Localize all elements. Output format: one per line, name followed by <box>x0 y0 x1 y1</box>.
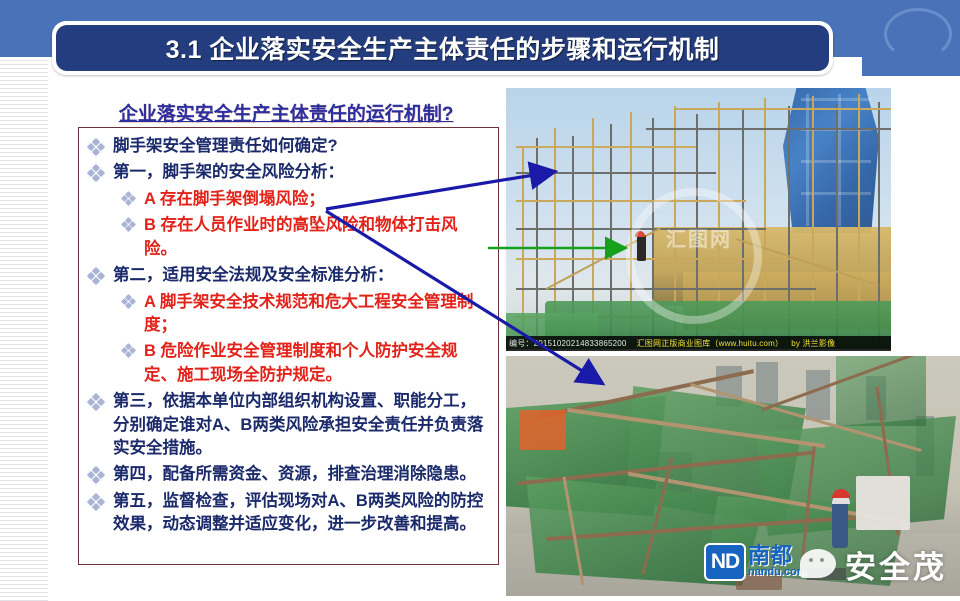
bullet-text: 第四，配备所需资金、资源，排查治理消除隐患。 <box>104 463 489 486</box>
page-title: 3.1 企业落实安全生产主体责任的步骤和运行机制 <box>166 30 720 66</box>
left-stripe-decoration <box>0 57 48 601</box>
watermark-ring <box>626 188 762 324</box>
bullet-diamond-icon <box>88 268 104 284</box>
watermark-author: by 洪兰影像 <box>791 338 835 349</box>
watermark-number: 编号：20151020214833865200 <box>509 338 627 349</box>
bullet-text: B 危险作业安全管理制度和个人防护安全规定、施工现场全防护规定。 <box>135 340 489 387</box>
nandu-domain: nandu.com <box>748 566 807 578</box>
bullet-diamond-icon <box>88 467 104 483</box>
bullet-diamond-icon <box>88 494 104 510</box>
bullet-text: 第一，脚手架的安全风险分析： <box>104 161 489 184</box>
slide-canvas: 3.1 企业落实安全生产主体责任的步骤和运行机制 企业落实安全生产主体责任的运行… <box>0 0 960 601</box>
bullet-item: 第二，适用安全法规及安全标准分析： <box>78 264 489 287</box>
bullet-item: 第一，脚手架的安全风险分析： <box>78 161 489 184</box>
watermark-source: 汇图网正版商业图库（www.huitu.com） <box>637 338 784 349</box>
bullet-diamond-icon <box>122 218 135 231</box>
bullet-text: 第五，监督检查，评估现场对A、B两类风险的防控效果，动态调整并适应变化，进一步改… <box>104 490 489 537</box>
title-bar: 3.1 企业落实安全生产主体责任的步骤和运行机制 <box>56 25 829 71</box>
bullet-diamond-icon <box>122 192 135 205</box>
photo-watermark-bar: 编号：20151020214833865200 汇图网正版商业图库（www.hu… <box>506 336 891 351</box>
bullet-diamond-icon <box>122 295 135 308</box>
bullet-item: B 存在人员作业时的高坠风险和物体打击风险。 <box>78 214 489 261</box>
bullet-text: 第三，依据本单位内部组织机构设置、职能分工，分别确定谁对A、B两类风险承担安全责… <box>104 390 489 460</box>
arc-decoration-icon <box>884 8 952 60</box>
bullet-text: A 存在脚手架倒塌风险； <box>135 188 489 211</box>
bullet-item: 脚手架安全管理责任如何确定? <box>78 135 489 158</box>
bullet-diamond-icon <box>88 139 104 155</box>
section-subtitle: 企业落实安全生产主体责任的运行机制? <box>76 99 496 126</box>
bullet-item: 第三，依据本单位内部组织机构设置、职能分工，分别确定谁对A、B两类风险承担安全责… <box>78 390 489 460</box>
bullet-item: 第四，配备所需资金、资源，排查治理消除隐患。 <box>78 463 489 486</box>
channel-name: 安全茂 <box>845 542 947 587</box>
bullet-item: A 存在脚手架倒塌风险； <box>78 188 489 211</box>
bullet-item: A 脚手架安全技术规范和危大工程安全管理制度； <box>78 291 489 338</box>
bullet-diamond-icon <box>88 394 104 410</box>
bullet-text: B 存在人员作业时的高坠风险和物体打击风险。 <box>135 214 489 261</box>
bullet-item: B 危险作业安全管理制度和个人防护安全规定、施工现场全防护规定。 <box>78 340 489 387</box>
bullet-diamond-icon <box>88 165 104 181</box>
bullet-diamond-icon <box>122 344 135 357</box>
nandu-logo: ND 南都 nandu.com <box>706 545 807 579</box>
orange-debris <box>520 410 566 450</box>
bullet-text: 脚手架安全管理责任如何确定? <box>104 135 489 158</box>
bullet-text: 第二，适用安全法规及安全标准分析： <box>104 264 489 287</box>
bullet-text: A 脚手架安全技术规范和危大工程安全管理制度； <box>135 291 489 338</box>
nandu-name-cn: 南都 <box>748 546 807 566</box>
bullet-list: 脚手架安全管理责任如何确定?第一，脚手架的安全风险分析：A 存在脚手架倒塌风险；… <box>78 127 499 565</box>
wechat-icon <box>800 549 836 578</box>
photo-scaffolding-site: 汇图网 编号：20151020214833865200 汇图网正版商业图库（ww… <box>506 88 891 351</box>
watermark-ring-text: 汇图网 <box>666 223 732 252</box>
bullet-item: 第五，监督检查，评估现场对A、B两类风险的防控效果，动态调整并适应变化，进一步改… <box>78 490 489 537</box>
nandu-mark-icon: ND <box>706 545 744 579</box>
goods-cart <box>856 476 910 530</box>
